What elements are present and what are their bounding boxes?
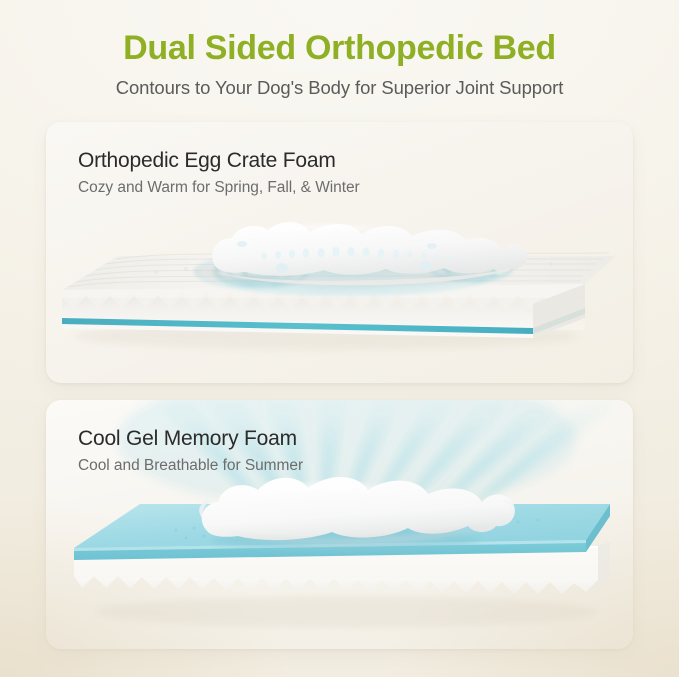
card-2-text-block: Cool Gel Memory Foam Cool and Breathable… — [46, 400, 633, 476]
header: Dual Sided Orthopedic Bed Contours to Yo… — [0, 0, 679, 99]
page-title: Dual Sided Orthopedic Bed — [0, 0, 679, 69]
slab-ground-shadow — [96, 596, 596, 628]
page-subtitle: Contours to Your Dog's Body for Superior… — [0, 69, 679, 99]
card-1-subtitle: Cozy and Warm for Spring, Fall, & Winter — [78, 173, 633, 198]
card-1-title: Orthopedic Egg Crate Foam — [78, 148, 633, 173]
card-2-title: Cool Gel Memory Foam — [78, 426, 633, 451]
card-cool-gel-memory-foam: Cool Gel Memory Foam Cool and Breathable… — [46, 400, 633, 649]
card-2-subtitle: Cool and Breathable for Summer — [78, 451, 633, 476]
card-orthopedic-egg-crate-foam: Orthopedic Egg Crate Foam Cozy and Warm … — [46, 122, 633, 383]
infographic-page: Dual Sided Orthopedic Bed Contours to Yo… — [0, 0, 679, 677]
card-1-text-block: Orthopedic Egg Crate Foam Cozy and Warm … — [46, 122, 633, 198]
